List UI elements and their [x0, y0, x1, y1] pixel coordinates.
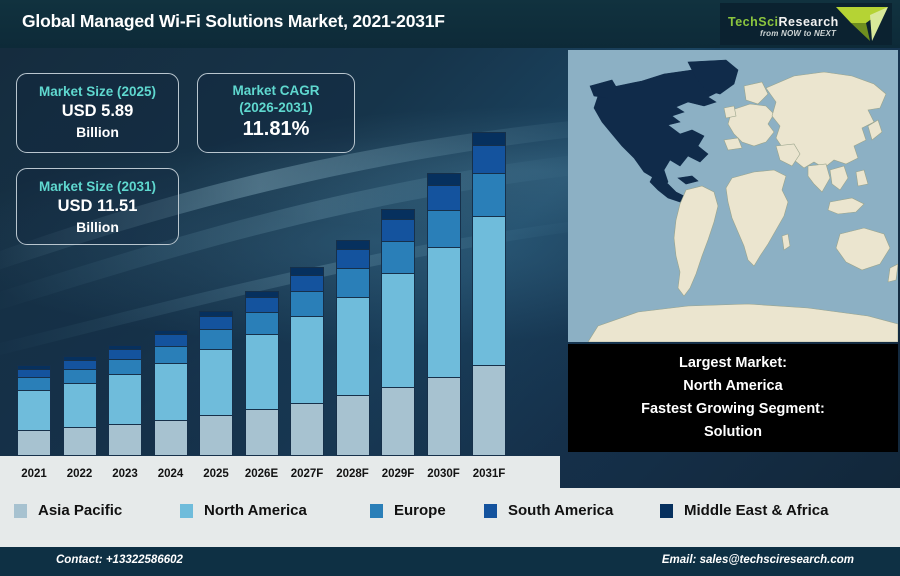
bar-segment-europe	[290, 291, 324, 316]
bar-segment-europe	[63, 369, 97, 382]
bar-segment-asia-pacific	[63, 427, 97, 456]
bar-segment-south-america	[381, 219, 415, 241]
legend-item-north-america[interactable]: North America	[180, 502, 307, 519]
bar-segment-asia-pacific	[381, 387, 415, 456]
bar-segment-south-america	[17, 369, 51, 377]
x-axis-label-2028F: 2028F	[327, 468, 379, 480]
x-axis-label-2022: 2022	[54, 468, 106, 480]
legend-swatch	[660, 504, 673, 518]
bar-2024	[154, 330, 188, 456]
legend-swatch	[14, 504, 27, 518]
fastest-segment-value: Solution	[568, 421, 898, 444]
legend-swatch	[180, 504, 193, 518]
legend-swatch	[484, 504, 497, 518]
logo-research: Research	[779, 15, 839, 29]
legend-label: South America	[508, 502, 613, 519]
legend-swatch	[370, 504, 383, 518]
bar-segment-asia-pacific	[245, 409, 279, 456]
x-axis-label-2025: 2025	[190, 468, 242, 480]
legend-label: Middle East & Africa	[684, 502, 828, 519]
bar-segment-north-america	[427, 247, 461, 377]
bar-segment-south-america	[472, 145, 506, 173]
bar-segment-north-america	[245, 334, 279, 409]
fastest-segment-label: Fastest Growing Segment:	[568, 398, 898, 421]
bar-segment-asia-pacific	[290, 403, 324, 456]
x-axis-label-2031F: 2031F	[463, 468, 515, 480]
infographic-page: Global Managed Wi-Fi Solutions Market, 2…	[0, 0, 900, 576]
world-map	[568, 50, 898, 342]
stacked-bar-chart: 202120222023202420252026E2027F2028F2029F…	[0, 48, 560, 488]
logo-tagline: from NOW to NEXT	[760, 29, 836, 38]
bar-segment-asia-pacific	[336, 395, 370, 456]
bar-segment-middle-east-africa	[381, 209, 415, 219]
bar-2022	[63, 356, 97, 456]
legend-label: North America	[204, 502, 307, 519]
bar-segment-middle-east-africa	[336, 240, 370, 248]
bar-2027F	[290, 267, 324, 456]
bar-segment-north-america	[154, 363, 188, 420]
bar-segment-asia-pacific	[472, 365, 506, 456]
legend-item-south-america[interactable]: South America	[484, 502, 613, 519]
bar-segment-asia-pacific	[199, 415, 233, 456]
bar-2023	[108, 345, 142, 456]
bar-2025	[199, 311, 233, 456]
bar-segment-south-america	[290, 275, 324, 292]
bar-2030F	[427, 173, 461, 456]
techsci-logo: TechSciResearch from NOW to NEXT	[720, 3, 892, 45]
largest-market-label: Largest Market:	[568, 352, 898, 375]
bar-segment-asia-pacific	[427, 377, 461, 456]
bar-segment-europe	[472, 173, 506, 216]
bar-segment-europe	[427, 210, 461, 247]
legend-item-asia-pacific[interactable]: Asia Pacific	[14, 502, 122, 519]
bar-2026E	[245, 291, 279, 456]
legend-item-middle-east-africa[interactable]: Middle East & Africa	[660, 502, 828, 519]
bar-segment-europe	[336, 268, 370, 297]
legend-label: Asia Pacific	[38, 502, 122, 519]
legend-label: Europe	[394, 502, 446, 519]
world-map-graphic	[568, 50, 898, 342]
bar-segment-north-america	[108, 374, 142, 424]
x-axis-label-2021: 2021	[8, 468, 60, 480]
bar-segment-europe	[245, 312, 279, 334]
bar-segment-asia-pacific	[108, 424, 142, 456]
footer-contact: Contact: +13322586602	[56, 554, 183, 566]
logo-wordmark: TechSciResearch	[728, 15, 839, 29]
bar-segment-south-america	[427, 185, 461, 210]
x-axis-label-2029F: 2029F	[372, 468, 424, 480]
bar-segment-asia-pacific	[154, 420, 188, 456]
x-axis-label-2026E: 2026E	[236, 468, 288, 480]
page-title: Global Managed Wi-Fi Solutions Market, 2…	[22, 11, 445, 32]
bar-2028F	[336, 240, 370, 456]
bar-segment-north-america	[199, 349, 233, 415]
key-insights-box: Largest Market: North America Fastest Gr…	[568, 344, 898, 452]
bar-segment-south-america	[336, 249, 370, 268]
logo-techsci: TechSci	[728, 15, 779, 29]
footer-email: Email: sales@techsciresearch.com	[662, 554, 854, 566]
bar-2029F	[381, 209, 415, 456]
header-bar: Global Managed Wi-Fi Solutions Market, 2…	[0, 0, 900, 48]
region-british-isles	[724, 106, 736, 118]
bar-segment-south-america	[108, 349, 142, 359]
bar-segment-north-america	[336, 297, 370, 396]
bar-segment-north-america	[472, 216, 506, 365]
bar-segment-europe	[381, 241, 415, 274]
x-axis-label-2024: 2024	[145, 468, 197, 480]
bar-segment-europe	[154, 346, 188, 363]
bar-segment-south-america	[154, 334, 188, 345]
legend-item-europe[interactable]: Europe	[370, 502, 446, 519]
bar-segment-middle-east-africa	[427, 173, 461, 184]
bar-segment-europe	[199, 329, 233, 348]
chart-legend: Asia PacificNorth AmericaEuropeSouth Ame…	[0, 488, 900, 533]
bar-segment-south-america	[199, 316, 233, 329]
x-axis-label-2027F: 2027F	[281, 468, 333, 480]
bar-segment-europe	[108, 359, 142, 374]
bar-segment-north-america	[381, 273, 415, 387]
footer-bar: Contact: +13322586602 Email: sales@techs…	[0, 547, 900, 576]
bar-segment-middle-east-africa	[472, 132, 506, 145]
bar-segment-middle-east-africa	[290, 267, 324, 274]
bar-segment-south-america	[245, 297, 279, 312]
bar-2021	[17, 365, 51, 456]
x-axis-label-2030F: 2030F	[418, 468, 470, 480]
largest-market-value: North America	[568, 375, 898, 398]
bar-segment-north-america	[17, 390, 51, 430]
bar-segment-north-america	[290, 316, 324, 402]
bar-segment-europe	[17, 377, 51, 389]
bar-segment-asia-pacific	[17, 430, 51, 456]
x-axis-label-2023: 2023	[99, 468, 151, 480]
bar-2031F	[472, 132, 506, 456]
bar-segment-south-america	[63, 360, 97, 369]
bar-segment-north-america	[63, 383, 97, 428]
